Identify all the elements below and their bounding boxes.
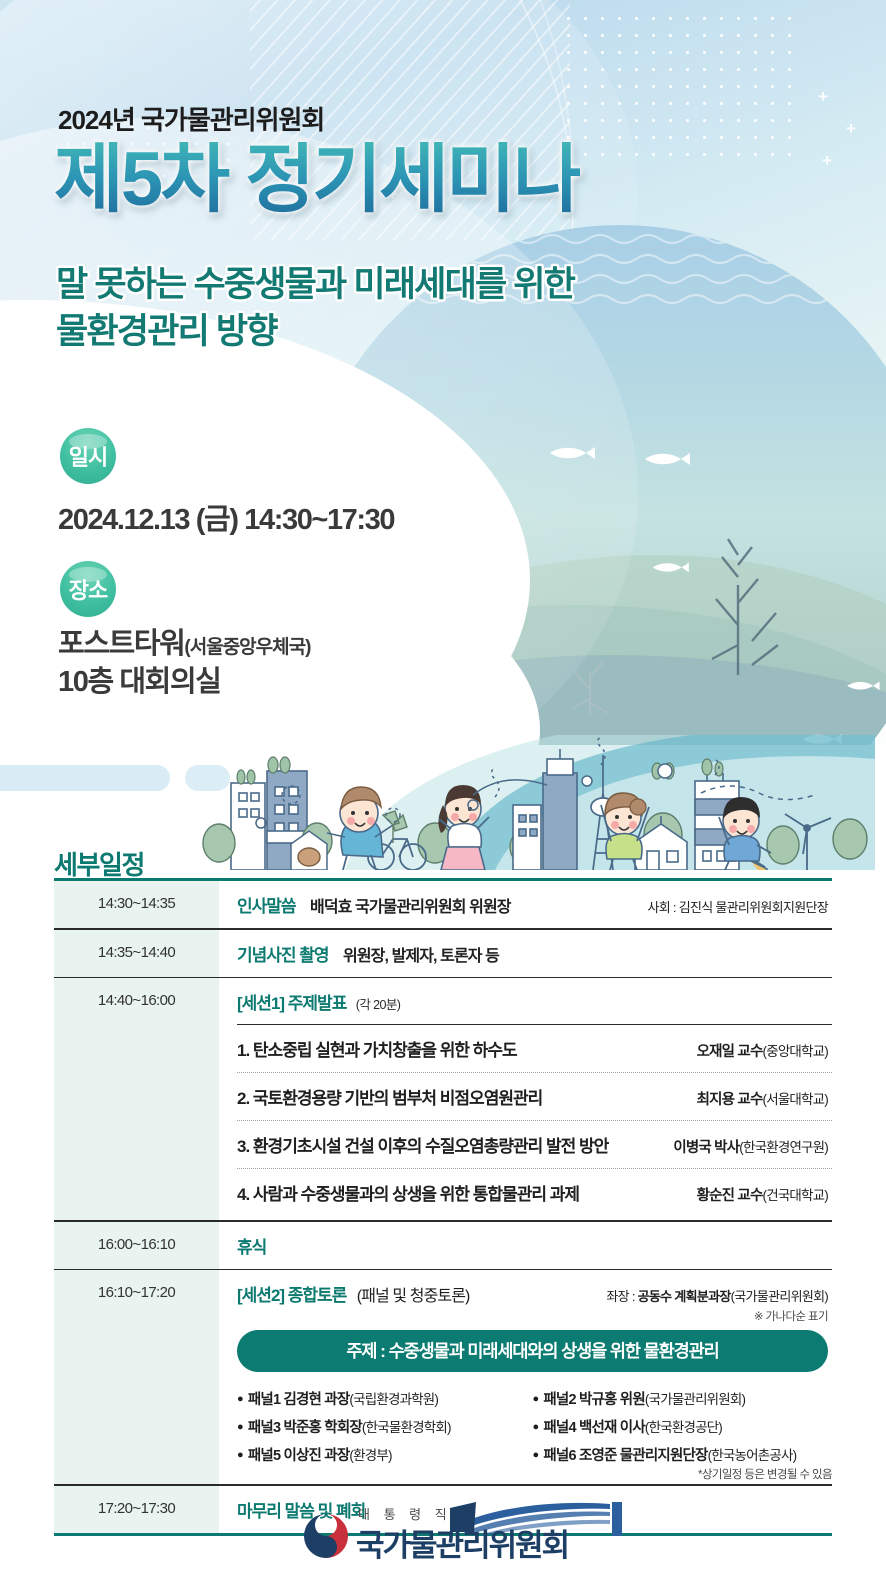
- panel-name: 박준홍 학회장: [283, 1420, 361, 1436]
- table-row-session2: 16:10~17:20 [세션2] 종합토론 (패널 및 청중토론) 좌장 : …: [54, 1270, 832, 1484]
- panel-list: ●패널1 김경현 과장(국립환경과학원) ●패널3 박준홍 학회장(한국물환경학…: [237, 1372, 832, 1478]
- taegeuk-logo-icon: [300, 1510, 352, 1562]
- panel-column-left: ●패널1 김경현 과장(국립환경과학원) ●패널3 박준홍 학회장(한국물환경학…: [237, 1384, 533, 1468]
- talk-item: 3. 환경기초시설 건설 이후의 수질오염총량관리 발전 방안 이병국 박사(한…: [237, 1121, 832, 1168]
- government-logo: 대 통 령 직 속 국가물관리위원회: [300, 1500, 590, 1570]
- decorative-pill: [0, 765, 170, 791]
- schedule-table: 14:30~14:35 인사말씀 배덕효 국가물관리위원회 위원장 사회 : 김…: [54, 878, 832, 1536]
- panel-name: 백선재 이사: [579, 1420, 645, 1436]
- talk-number: 2.: [237, 1089, 249, 1108]
- talk-title-text: 환경기초시설 건설 이후의 수질오염총량관리 발전 방안: [253, 1137, 608, 1156]
- row-time: 17:20~17:30: [54, 1486, 219, 1533]
- speaker-name: 최지용 교수: [697, 1092, 763, 1108]
- talk-speaker: 최지용 교수(서울대학교): [697, 1088, 828, 1109]
- table-row-break: 16:00~16:10 휴식: [54, 1222, 832, 1269]
- row-content: 인사말씀 배덕효 국가물관리위원회 위원장 사회 : 김진식 물관리위원회지원단…: [219, 881, 832, 928]
- chair-name: 공동수 계획분과장: [638, 1289, 731, 1304]
- plus-decoration-icon: +: [822, 152, 832, 169]
- bullet-icon: ●: [237, 1449, 243, 1461]
- talk-title-text: 탄소중립 실현과 가치창출을 위한 하수도: [253, 1041, 517, 1060]
- talk-speaker: 오재일 교수(중앙대학교): [697, 1040, 828, 1061]
- panel-item: ●패널1 김경현 과장(국립환경과학원): [237, 1384, 533, 1412]
- logo-title: 국가물관리위원회: [356, 1520, 568, 1565]
- table-row: 14:30~14:35 인사말씀 배덕효 국가물관리위원회 위원장 사회 : 김…: [54, 881, 832, 928]
- talk-title: 4. 사람과 수중생물과의 상생을 위한 통합물관리 과제: [237, 1180, 579, 1205]
- row-label: 인사말씀: [237, 897, 296, 916]
- panel-number: 패널1: [248, 1392, 280, 1408]
- talk-item: 4. 사람과 수중생물과의 상생을 위한 통합물관리 과제 황순진 교수(건국대…: [237, 1169, 832, 1216]
- row-line: 인사말씀 배덕효 국가물관리위원회 위원장 사회 : 김진식 물관리위원회지원단…: [237, 892, 832, 917]
- panel-name: 이상진 과장: [283, 1448, 349, 1464]
- talk-title-text: 사람과 수중생물과의 상생을 위한 통합물관리 과제: [253, 1185, 579, 1204]
- talk-speaker: 이병국 박사(한국환경연구원): [673, 1136, 828, 1157]
- bullet-icon: ●: [533, 1449, 539, 1461]
- talk-title: 1. 탄소중립 실현과 가치창출을 위한 하수도: [237, 1036, 517, 1061]
- row-content: [세션2] 종합토론 (패널 및 청중토론) 좌장 : 공동수 계획분과장(국가…: [219, 1270, 832, 1484]
- row-line: 기념사진 촬영 위원장, 발제자, 토론자 등: [237, 941, 832, 966]
- table-row: 14:35~14:40 기념사진 촬영 위원장, 발제자, 토론자 등: [54, 930, 832, 977]
- break-label: 휴식: [237, 1238, 266, 1257]
- date-badge-label: 일시: [69, 440, 107, 472]
- place-line-1: 포스트타워(서울중앙우체국): [58, 620, 310, 662]
- discussion-topic-banner: 주제 : 수중생물과 미래세대와의 상생을 위한 물환경관리: [237, 1330, 828, 1372]
- panel-number: 패널4: [543, 1420, 575, 1436]
- panel-item: ●패널2 박규홍 위원(국가물관리위원회): [533, 1384, 829, 1412]
- poster-title: 제5차 정기세미나: [54, 142, 580, 218]
- panel-number: 패널5: [248, 1448, 280, 1464]
- panel-column-right: ●패널2 박규홍 위원(국가물관리위원회) ●패널4 백선재 이사(한국환경공단…: [533, 1384, 829, 1468]
- session2-heading: [세션2] 종합토론 (패널 및 청중토론) 좌장 : 공동수 계획분과장(국가…: [237, 1281, 832, 1306]
- city-children-illustration: [195, 735, 875, 870]
- poster-subtitle: 말 못하는 수중생물과 미래세대를 위한 물환경관리 방향: [56, 262, 756, 356]
- date-badge: 일시: [60, 428, 116, 484]
- panel-name: 조영준 물관리지원단장: [579, 1448, 708, 1464]
- session1-note: (각 20분): [356, 998, 401, 1012]
- speaker-name: 이병국 박사: [673, 1140, 739, 1156]
- talk-title-text: 국토환경용량 기반의 범부처 비점오염원관리: [253, 1089, 542, 1108]
- speaker-name: 황순진 교수: [697, 1188, 763, 1204]
- plus-decoration-icon: +: [846, 120, 856, 137]
- session2-chair: 좌장 : 공동수 계획분과장(국가물관리위원회): [606, 1286, 828, 1305]
- bullet-icon: ●: [533, 1393, 539, 1405]
- talk-number: 3.: [237, 1137, 249, 1156]
- schedule-section-title: 세부일정: [54, 845, 144, 882]
- session2-main: [세션2] 종합토론 (패널 및 청중토론): [237, 1281, 469, 1306]
- talk-title: 3. 환경기초시설 건설 이후의 수질오염총량관리 발전 방안: [237, 1132, 608, 1157]
- schedule-footnote: *상기일정 등은 변경될 수 있음: [698, 1466, 832, 1482]
- panel-number: 패널3: [248, 1420, 280, 1436]
- speaker-name: 오재일 교수: [697, 1044, 763, 1060]
- talk-item: 2. 국토환경용량 기반의 범부처 비점오염원관리 최지용 교수(서울대학교): [237, 1073, 832, 1120]
- place-badge: 장소: [60, 561, 116, 617]
- city-illustration-icon: [195, 735, 875, 870]
- row-moderator: 사회 : 김진식 물관리위원회지원단장: [647, 897, 828, 916]
- session2-note: (패널 및 청중토론): [357, 1288, 470, 1305]
- session1-heading: [세션1] 주제발표 (각 20분): [237, 989, 832, 1024]
- background-hatch-pattern: [0, 330, 180, 520]
- bullet-icon: ●: [533, 1421, 539, 1433]
- bullet-icon: ●: [237, 1393, 243, 1405]
- row-desc: 위원장, 발제자, 토론자 등: [343, 948, 499, 965]
- panel-item: ●패널6 조영준 물관리지원단장(한국농어촌공사): [533, 1440, 829, 1468]
- speaker-affiliation: (건국대학교): [763, 1188, 829, 1203]
- panel-item: ●패널4 백선재 이사(한국환경공단): [533, 1412, 829, 1440]
- row-main: 인사말씀 배덕효 국가물관리위원회 위원장: [237, 892, 511, 917]
- row-label: 기념사진 촬영: [237, 946, 329, 965]
- panel-affiliation: (국립환경과학원): [349, 1392, 438, 1407]
- panel-number: 패널6: [543, 1448, 575, 1464]
- row-time: 14:40~16:00: [54, 978, 219, 1220]
- plus-decoration-icon: ✕: [300, 368, 314, 385]
- poster-kicker: 2024년 국가물관리위원회: [58, 100, 324, 137]
- talk-number: 4.: [237, 1185, 249, 1204]
- place-venue: 포스트타워: [58, 628, 184, 660]
- row-time: 16:00~16:10: [54, 1222, 219, 1269]
- panel-name: 박규홍 위원: [579, 1392, 645, 1408]
- place-line-2: 10층 대회의실: [58, 658, 221, 700]
- talk-speaker: 황순진 교수(건국대학교): [697, 1184, 828, 1205]
- gana-order-note: ※ 가나다순 표기: [237, 1306, 832, 1330]
- panel-affiliation: (한국물환경학회): [362, 1420, 451, 1435]
- poster-root: + + + + + ✕ 2024년 국가물관리위원회 제5차 정기세미나 말 못…: [0, 0, 886, 1594]
- panel-affiliation: (한국환경공단): [645, 1420, 722, 1435]
- panel-affiliation: (한국농어촌공사): [708, 1448, 797, 1463]
- session2-label: [세션2] 종합토론: [237, 1286, 346, 1305]
- chair-affiliation: (국가물관리위원회): [731, 1289, 828, 1304]
- row-main: 기념사진 촬영 위원장, 발제자, 토론자 등: [237, 941, 499, 966]
- talk-number: 1.: [237, 1041, 249, 1060]
- place-badge-label: 장소: [69, 573, 107, 605]
- table-row-session1: 14:40~16:00 [세션1] 주제발표 (각 20분) 1. 탄소중립 실…: [54, 978, 832, 1220]
- date-value: 2024.12.13 (금) 14:30~17:30: [58, 496, 394, 538]
- subtitle-line-1: 말 못하는 수중생물과 미래세대를 위한: [56, 262, 756, 309]
- row-content: 휴식: [219, 1222, 832, 1269]
- subtitle-line-2: 물환경관리 방향: [56, 309, 756, 356]
- speaker-affiliation: (중앙대학교): [763, 1044, 829, 1059]
- row-time: 14:35~14:40: [54, 930, 219, 977]
- panel-affiliation: (환경부): [349, 1448, 391, 1463]
- session1-label: [세션1] 주제발표: [237, 994, 346, 1013]
- row-content: [세션1] 주제발표 (각 20분) 1. 탄소중립 실현과 가치창출을 위한 …: [219, 978, 832, 1220]
- panel-affiliation: (국가물관리위원회): [645, 1392, 745, 1407]
- talk-item: 1. 탄소중립 실현과 가치창출을 위한 하수도 오재일 교수(중앙대학교): [237, 1025, 832, 1072]
- row-desc: 배덕효 국가물관리위원회 위원장: [310, 899, 511, 916]
- panel-name: 김경현 과장: [283, 1392, 349, 1408]
- speaker-affiliation: (서울대학교): [763, 1092, 829, 1107]
- plus-decoration-icon: +: [818, 88, 828, 105]
- bullet-icon: ●: [237, 1421, 243, 1433]
- speaker-affiliation: (한국환경연구원): [739, 1140, 828, 1155]
- panel-number: 패널2: [543, 1392, 575, 1408]
- chair-prefix: 좌장 :: [606, 1289, 637, 1304]
- row-time: 16:10~17:20: [54, 1270, 219, 1484]
- place-venue-paren: (서울중앙우체국): [184, 637, 310, 658]
- row-time: 14:30~14:35: [54, 881, 219, 928]
- panel-item: ●패널5 이상진 과장(환경부): [237, 1440, 533, 1468]
- panel-item: ●패널3 박준홍 학회장(한국물환경학회): [237, 1412, 533, 1440]
- talk-title: 2. 국토환경용량 기반의 범부처 비점오염원관리: [237, 1084, 542, 1109]
- row-content: 기념사진 촬영 위원장, 발제자, 토론자 등: [219, 930, 832, 977]
